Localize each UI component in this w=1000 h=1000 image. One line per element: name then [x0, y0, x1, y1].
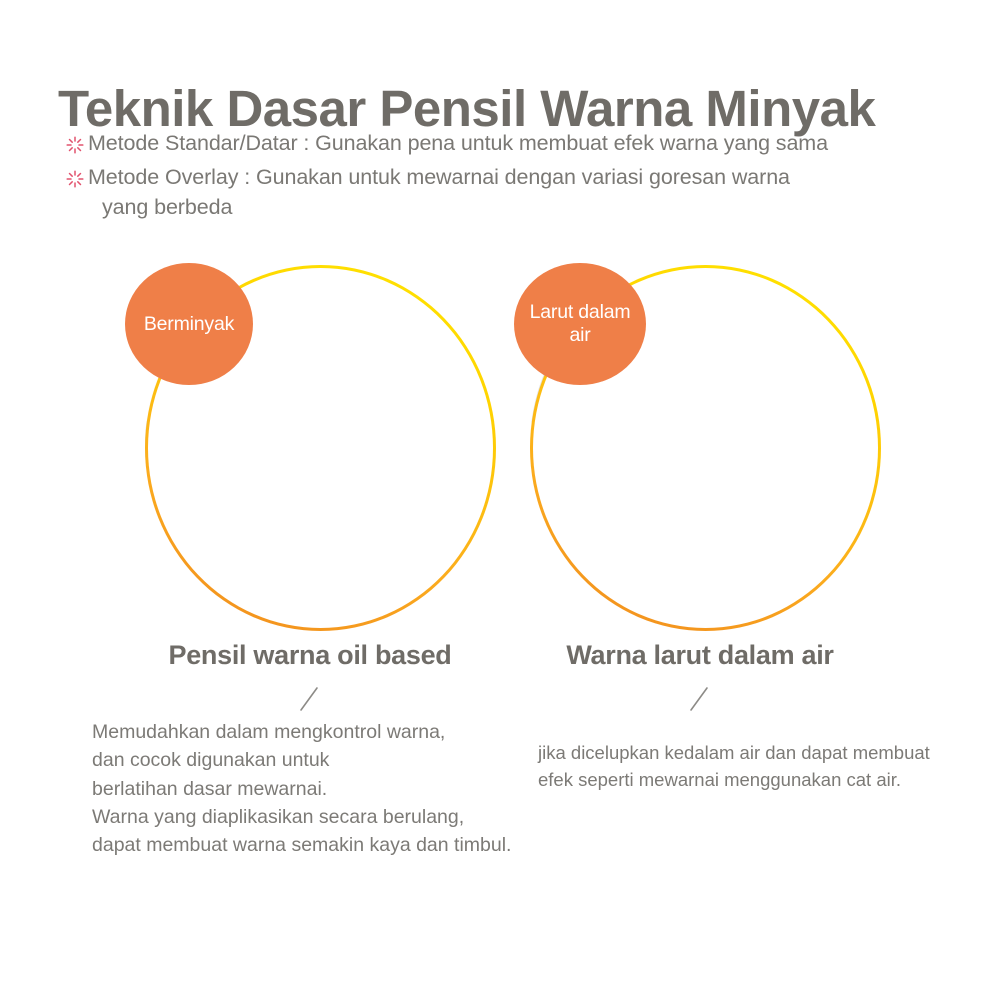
description-oil-based: Memudahkan dalam mengkontrol warna, dan …: [92, 718, 532, 859]
list-item: Metode Standar/Datar : Gunakan pena untu…: [62, 128, 992, 160]
caption-water-soluble: Warna larut dalam air: [520, 640, 880, 671]
badge-larut-dalam-air: Larut dalam air: [514, 263, 646, 385]
description-line: dan cocok digunakan untuk: [92, 746, 532, 774]
sparkle-icon: [62, 130, 88, 160]
badge-berminyak: Berminyak: [125, 263, 253, 385]
panel-water-soluble: Larut dalam air: [518, 255, 878, 635]
description-line: jika dicelupkan kedalam air dan dapat me…: [538, 740, 978, 767]
slash-divider-left: [130, 684, 490, 718]
badge-label: Larut dalam air: [522, 301, 638, 347]
bullet-line-continued: yang berbeda: [88, 192, 790, 222]
sparkle-icon: [62, 164, 88, 194]
slash-divider-right: [520, 684, 880, 718]
description-line: dapat membuat warna semakin kaya dan tim…: [92, 831, 532, 859]
comparison-panels: Berminyak: [0, 255, 1000, 655]
bullet-line: Metode Standar/Datar : Gunakan pena untu…: [88, 131, 828, 155]
description-line: efek seperti mewarnai menggunakan cat ai…: [538, 767, 978, 794]
description-line: berlatihan dasar mewarnai.: [92, 775, 532, 803]
description-line: Warna yang diaplikasikan secara berulang…: [92, 803, 532, 831]
list-item: Metode Overlay : Gunakan untuk mewarnai …: [62, 162, 992, 222]
feature-bullet-list: Metode Standar/Datar : Gunakan pena untu…: [62, 128, 992, 224]
bullet-text-standard: Metode Standar/Datar : Gunakan pena untu…: [88, 128, 828, 158]
bullet-line: Metode Overlay : Gunakan untuk mewarnai …: [88, 165, 790, 189]
bullet-text-overlay: Metode Overlay : Gunakan untuk mewarnai …: [88, 162, 790, 222]
caption-oil-based: Pensil warna oil based: [130, 640, 490, 671]
panel-oil-based: Berminyak: [133, 255, 493, 635]
description-line: Memudahkan dalam mengkontrol warna,: [92, 718, 532, 746]
description-water-soluble: jika dicelupkan kedalam air dan dapat me…: [538, 740, 978, 794]
badge-label: Berminyak: [144, 313, 234, 336]
